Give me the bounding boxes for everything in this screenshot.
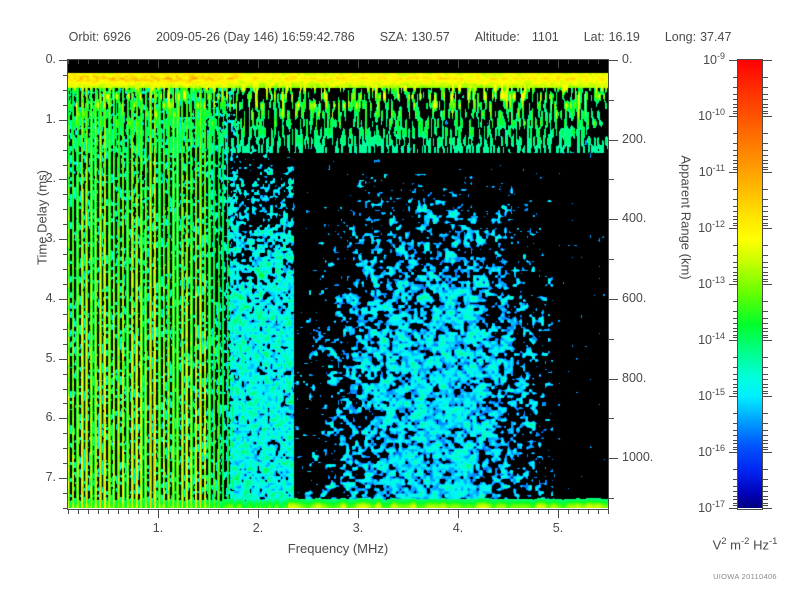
colorbar-minor-tick — [733, 430, 738, 431]
colorbar-minor-tick — [763, 505, 768, 506]
colorbar-minor-tick — [733, 311, 738, 312]
y-minor-tick — [63, 90, 68, 91]
y-minor-tick — [63, 508, 68, 509]
colorbar-bottom-line — [737, 509, 763, 510]
x-minor-tick — [398, 509, 399, 514]
colorbar-minor-tick — [733, 503, 738, 504]
colorbar-minor-tick — [763, 245, 768, 246]
colorbar-minor-tick — [733, 331, 738, 332]
long-value: 37.47 — [700, 30, 731, 44]
colorbar-minor-tick — [763, 379, 768, 380]
x-minor-tick — [78, 509, 79, 514]
y-minor-tick — [63, 448, 68, 449]
colorbar-minor-tick — [733, 318, 738, 319]
x-minor-tick — [278, 509, 279, 514]
x-top-tick — [508, 60, 509, 64]
y-right-minor-tick — [609, 259, 614, 260]
colorbar-tick-exponent: -9 — [717, 51, 725, 61]
y-minor-tick — [63, 254, 68, 255]
colorbar-minor-tick — [763, 387, 768, 388]
radargram-heatmap-canvas — [68, 60, 608, 508]
colorbar-tick-exponent: -16 — [712, 443, 725, 453]
colorbar-minor-tick — [763, 163, 768, 164]
colorbar-minor-tick — [763, 328, 768, 329]
colorbar-minor-tick — [763, 423, 768, 424]
colorbar-minor-tick — [763, 331, 768, 332]
x-minor-tick — [468, 509, 469, 514]
y-major-tick — [59, 179, 68, 180]
y-right-major-tick — [609, 140, 618, 141]
y-tick-label-left: 7. — [0, 470, 56, 484]
colorbar-tick-label: 10-16 — [669, 443, 725, 459]
x-top-tick — [588, 60, 589, 64]
colorbar-major-tick — [763, 340, 772, 341]
y-tick-label-right: 1000. — [622, 450, 653, 464]
colorbar-major-tick — [763, 228, 772, 229]
colorbar-tick-mantissa: 10 — [699, 165, 713, 179]
x-top-tick — [98, 60, 99, 64]
x-top-tick — [118, 60, 119, 64]
colorbar-minor-tick — [733, 335, 738, 336]
x-top-tick — [68, 60, 69, 64]
colorbar-tick-label: 10-14 — [669, 331, 725, 347]
x-minor-tick — [528, 509, 529, 514]
x-minor-tick — [568, 509, 569, 514]
orbit-label: Orbit: — [69, 30, 100, 44]
x-minor-tick — [288, 509, 289, 514]
sza-label: SZA: — [380, 30, 408, 44]
y-right-minor-tick — [609, 179, 614, 180]
y-tick-label-right: 800. — [622, 371, 646, 385]
colorbar-major-tick — [763, 60, 772, 61]
colorbar-minor-tick — [733, 94, 738, 95]
x-top-tick — [538, 60, 539, 64]
y-right-minor-tick — [609, 418, 614, 419]
colorbar-minor-tick — [733, 167, 738, 168]
x-top-tick — [158, 60, 159, 68]
x-top-tick — [208, 60, 209, 64]
colorbar-minor-tick — [763, 267, 768, 268]
colorbar-minor-tick — [763, 393, 768, 394]
x-top-tick — [518, 60, 519, 64]
x-minor-tick — [228, 509, 229, 514]
colorbar-major-tick — [763, 116, 772, 117]
x-top-tick — [248, 60, 249, 64]
x-minor-tick — [268, 509, 269, 514]
colorbar-minor-tick — [763, 337, 768, 338]
x-minor-tick — [418, 509, 419, 514]
y-major-tick — [59, 359, 68, 360]
colorbar-minor-tick — [733, 255, 738, 256]
colorbar-tick-exponent: -12 — [712, 219, 725, 229]
colorbar-minor-tick — [763, 107, 768, 108]
colorbar-minor-tick — [763, 94, 768, 95]
x-top-tick — [418, 60, 419, 64]
colorbar-minor-tick — [733, 384, 738, 385]
colorbar-minor-tick — [733, 447, 738, 448]
x-minor-tick — [408, 509, 409, 514]
x-top-tick — [498, 60, 499, 64]
x-tick-label: 3. — [328, 521, 388, 535]
colorbar-minor-tick — [763, 311, 768, 312]
x-top-tick — [388, 60, 389, 64]
altitude-value: 1101 — [532, 30, 559, 44]
y-minor-tick — [63, 135, 68, 136]
colorbar-minor-tick — [763, 440, 768, 441]
colorbar-tick-label: 10-11 — [669, 163, 725, 179]
altitude-label: Altitude: — [475, 30, 520, 44]
colorbar-minor-tick — [733, 223, 738, 224]
colorbar-minor-tick — [763, 367, 768, 368]
colorbar — [738, 60, 762, 508]
x-minor-tick — [378, 509, 379, 514]
colorbar-minor-tick — [733, 440, 738, 441]
x-minor-tick — [138, 509, 139, 514]
y-tick-label-left: 0. — [0, 52, 56, 66]
x-top-tick — [558, 60, 559, 68]
x-major-tick — [258, 509, 259, 518]
colorbar-minor-tick — [763, 503, 768, 504]
colorbar-tick-exponent: -17 — [712, 499, 725, 509]
y-major-tick — [59, 239, 68, 240]
x-top-tick — [108, 60, 109, 64]
y-axis-left-title: Time Delay (ms) — [35, 138, 50, 298]
x-top-tick — [468, 60, 469, 64]
unit-hz-exp: -1 — [769, 536, 777, 547]
colorbar-minor-tick — [733, 225, 738, 226]
x-top-tick — [358, 60, 359, 68]
colorbar-major-tick — [763, 396, 772, 397]
y-right-major-tick — [609, 60, 618, 61]
x-top-tick — [368, 60, 369, 64]
x-minor-tick — [208, 509, 209, 514]
x-minor-tick — [518, 509, 519, 514]
x-minor-tick — [438, 509, 439, 514]
colorbar-minor-tick — [733, 272, 738, 273]
colorbar-tick-label: 10-10 — [669, 107, 725, 123]
colorbar-tick-label: 10-12 — [669, 219, 725, 235]
colorbar-minor-tick — [763, 374, 768, 375]
sza-field: SZA:130.57 — [380, 30, 450, 44]
colorbar-minor-tick — [763, 499, 768, 500]
colorbar-minor-tick — [763, 225, 768, 226]
x-minor-tick — [368, 509, 369, 514]
y-minor-tick — [63, 224, 68, 225]
colorbar-tick-mantissa: 10 — [698, 109, 712, 123]
colorbar-minor-tick — [733, 143, 738, 144]
colorbar-minor-tick — [733, 104, 738, 105]
x-major-tick — [458, 509, 459, 518]
y-major-tick — [59, 60, 68, 61]
colorbar-minor-tick — [763, 479, 768, 480]
x-top-tick — [138, 60, 139, 64]
x-minor-tick — [188, 509, 189, 514]
colorbar-minor-tick — [733, 499, 738, 500]
x-minor-tick — [148, 509, 149, 514]
x-minor-tick — [128, 509, 129, 514]
colorbar-tick-mantissa: 10 — [698, 445, 712, 459]
colorbar-tick-exponent: -13 — [712, 275, 725, 285]
x-minor-tick — [118, 509, 119, 514]
colorbar-major-tick — [729, 228, 738, 229]
y-minor-tick — [63, 105, 68, 106]
colorbar-major-tick — [729, 172, 738, 173]
colorbar-minor-tick — [733, 281, 738, 282]
colorbar-minor-tick — [763, 272, 768, 273]
unit-m: m — [727, 537, 741, 552]
colorbar-major-tick — [763, 172, 772, 173]
colorbar-minor-tick — [733, 163, 738, 164]
x-top-tick — [148, 60, 149, 64]
colorbar-minor-tick — [763, 335, 768, 336]
colorbar-minor-tick — [763, 262, 768, 263]
colorbar-minor-tick — [763, 323, 768, 324]
colorbar-minor-tick — [733, 211, 738, 212]
colorbar-minor-tick — [763, 430, 768, 431]
lat-value: 16.19 — [609, 30, 640, 44]
colorbar-minor-tick — [763, 357, 768, 358]
colorbar-minor-tick — [763, 104, 768, 105]
unit-hz: Hz — [749, 537, 769, 552]
colorbar-minor-tick — [763, 255, 768, 256]
colorbar-minor-tick — [763, 275, 768, 276]
orbit-value: 6926 — [103, 30, 131, 44]
x-minor-tick — [348, 509, 349, 514]
colorbar-minor-tick — [763, 155, 768, 156]
x-tick-label: 2. — [228, 521, 288, 535]
y-right-major-tick — [609, 299, 618, 300]
x-top-tick — [428, 60, 429, 64]
colorbar-minor-tick — [733, 216, 738, 217]
y-right-major-tick — [609, 219, 618, 220]
x-minor-tick — [388, 509, 389, 514]
colorbar-major-tick — [763, 452, 772, 453]
x-minor-tick — [218, 509, 219, 514]
colorbar-minor-tick — [733, 391, 738, 392]
x-top-tick — [578, 60, 579, 64]
y-tick-label-right: 0. — [622, 52, 632, 66]
x-top-tick — [258, 60, 259, 68]
x-top-tick — [548, 60, 549, 64]
colorbar-minor-tick — [733, 479, 738, 480]
colorbar-minor-tick — [733, 374, 738, 375]
colorbar-minor-tick — [763, 111, 768, 112]
y-minor-tick — [63, 165, 68, 166]
x-top-tick — [238, 60, 239, 64]
colorbar-minor-tick — [733, 279, 738, 280]
x-minor-tick — [338, 509, 339, 514]
colorbar-major-tick — [729, 60, 738, 61]
altitude-field: Altitude:1101 — [475, 30, 559, 44]
x-top-tick — [288, 60, 289, 64]
colorbar-minor-tick — [733, 328, 738, 329]
colorbar-minor-tick — [763, 318, 768, 319]
colorbar-minor-tick — [763, 199, 768, 200]
colorbar-gradient — [738, 60, 762, 508]
x-top-tick — [308, 60, 309, 64]
x-top-tick — [378, 60, 379, 64]
y-minor-tick — [63, 284, 68, 285]
x-top-tick — [478, 60, 479, 64]
y-tick-label-left: 1. — [0, 112, 56, 126]
x-minor-tick — [598, 509, 599, 514]
colorbar-minor-tick — [733, 323, 738, 324]
x-top-tick — [228, 60, 229, 64]
colorbar-minor-tick — [733, 113, 738, 114]
x-top-tick — [268, 60, 269, 64]
x-minor-tick — [98, 509, 99, 514]
x-major-tick — [358, 509, 359, 518]
colorbar-major-tick — [729, 340, 738, 341]
colorbar-minor-tick — [763, 391, 768, 392]
colorbar-unit-label: V2 m-2 Hz-1 — [690, 536, 800, 552]
colorbar-minor-tick — [763, 169, 768, 170]
colorbar-minor-tick — [763, 449, 768, 450]
colorbar-minor-tick — [763, 301, 768, 302]
radargram-plot-area — [68, 60, 608, 508]
x-tick-label: 1. — [128, 521, 188, 535]
y-tick-label-left: 6. — [0, 410, 56, 424]
x-minor-tick — [608, 509, 609, 514]
lat-label: Lat: — [584, 30, 605, 44]
datetime-field: 2009-05-26 (Day 146) 16:59:42.786 — [156, 30, 355, 44]
x-minor-tick — [238, 509, 239, 514]
y-minor-tick — [63, 150, 68, 151]
x-top-tick — [198, 60, 199, 64]
y-right-major-tick — [609, 379, 618, 380]
colorbar-minor-tick — [733, 423, 738, 424]
orbit-field: Orbit:6926 — [69, 30, 131, 44]
colorbar-minor-tick — [733, 337, 738, 338]
y-major-tick — [59, 299, 68, 300]
credit-text: UIOWA 20110406 — [690, 572, 800, 581]
colorbar-major-tick — [763, 284, 772, 285]
y-major-tick — [59, 418, 68, 419]
colorbar-minor-tick — [733, 435, 738, 436]
x-minor-tick — [548, 509, 549, 514]
x-top-tick — [128, 60, 129, 64]
x-minor-tick — [178, 509, 179, 514]
colorbar-tick-mantissa: 10 — [698, 389, 712, 403]
colorbar-minor-tick — [733, 469, 738, 470]
colorbar-minor-tick — [763, 167, 768, 168]
y-minor-tick — [63, 493, 68, 494]
colorbar-minor-tick — [763, 435, 768, 436]
x-top-tick — [528, 60, 529, 64]
colorbar-minor-tick — [733, 387, 738, 388]
colorbar-tick-exponent: -10 — [712, 107, 725, 117]
colorbar-minor-tick — [763, 216, 768, 217]
x-minor-tick — [538, 509, 539, 514]
colorbar-tick-label: 10-9 — [669, 51, 725, 67]
y-tick-label-right: 400. — [622, 211, 646, 225]
y-minor-tick — [63, 329, 68, 330]
x-minor-tick — [248, 509, 249, 514]
colorbar-tick-label: 10-13 — [669, 275, 725, 291]
colorbar-minor-tick — [733, 262, 738, 263]
x-top-tick — [278, 60, 279, 64]
y-tick-label-left: 5. — [0, 351, 56, 365]
x-tick-label: 5. — [528, 521, 588, 535]
x-minor-tick — [308, 509, 309, 514]
x-top-tick — [218, 60, 219, 64]
colorbar-major-tick — [729, 116, 738, 117]
y-minor-tick — [63, 269, 68, 270]
colorbar-minor-tick — [733, 206, 738, 207]
colorbar-minor-tick — [733, 496, 738, 497]
x-top-tick — [398, 60, 399, 64]
y-right-minor-tick — [609, 100, 614, 101]
y-minor-tick — [63, 463, 68, 464]
x-minor-tick — [298, 509, 299, 514]
x-minor-tick — [588, 509, 589, 514]
colorbar-major-tick — [763, 508, 772, 509]
colorbar-minor-tick — [733, 301, 738, 302]
x-top-tick — [568, 60, 569, 64]
colorbar-minor-tick — [763, 143, 768, 144]
colorbar-minor-tick — [763, 77, 768, 78]
x-minor-tick — [88, 509, 89, 514]
colorbar-major-tick — [729, 396, 738, 397]
x-minor-tick — [478, 509, 479, 514]
colorbar-minor-tick — [763, 223, 768, 224]
colorbar-minor-tick — [733, 491, 738, 492]
colorbar-minor-tick — [733, 160, 738, 161]
x-top-tick — [438, 60, 439, 64]
colorbar-minor-tick — [733, 199, 738, 200]
x-minor-tick — [328, 509, 329, 514]
y-tick-label-right: 200. — [622, 132, 646, 146]
y-minor-tick — [63, 389, 68, 390]
colorbar-minor-tick — [733, 155, 738, 156]
x-top-tick — [78, 60, 79, 64]
y-minor-tick — [63, 374, 68, 375]
colorbar-tick-mantissa: 10 — [703, 53, 717, 67]
x-top-tick — [338, 60, 339, 64]
colorbar-minor-tick — [763, 99, 768, 100]
y-minor-tick — [63, 75, 68, 76]
colorbar-minor-tick — [763, 189, 768, 190]
colorbar-minor-tick — [763, 413, 768, 414]
colorbar-minor-tick — [763, 384, 768, 385]
colorbar-minor-tick — [733, 189, 738, 190]
colorbar-minor-tick — [733, 449, 738, 450]
colorbar-minor-tick — [733, 99, 738, 100]
x-minor-tick — [318, 509, 319, 514]
y-minor-tick — [63, 433, 68, 434]
colorbar-minor-tick — [733, 505, 738, 506]
x-top-tick — [298, 60, 299, 64]
y-minor-tick — [63, 209, 68, 210]
x-top-tick — [458, 60, 459, 68]
colorbar-minor-tick — [733, 87, 738, 88]
x-top-tick — [598, 60, 599, 64]
long-label: Long: — [665, 30, 696, 44]
sza-value: 130.57 — [411, 30, 449, 44]
colorbar-minor-tick — [763, 443, 768, 444]
y-major-tick — [59, 478, 68, 479]
colorbar-minor-tick — [733, 169, 738, 170]
colorbar-minor-tick — [733, 267, 738, 268]
x-tick-label: 4. — [428, 521, 488, 535]
y-minor-tick — [63, 314, 68, 315]
x-top-tick — [318, 60, 319, 64]
x-minor-tick — [68, 509, 69, 514]
colorbar-minor-tick — [763, 279, 768, 280]
colorbar-minor-tick — [733, 393, 738, 394]
colorbar-minor-tick — [733, 111, 738, 112]
x-top-tick — [488, 60, 489, 64]
